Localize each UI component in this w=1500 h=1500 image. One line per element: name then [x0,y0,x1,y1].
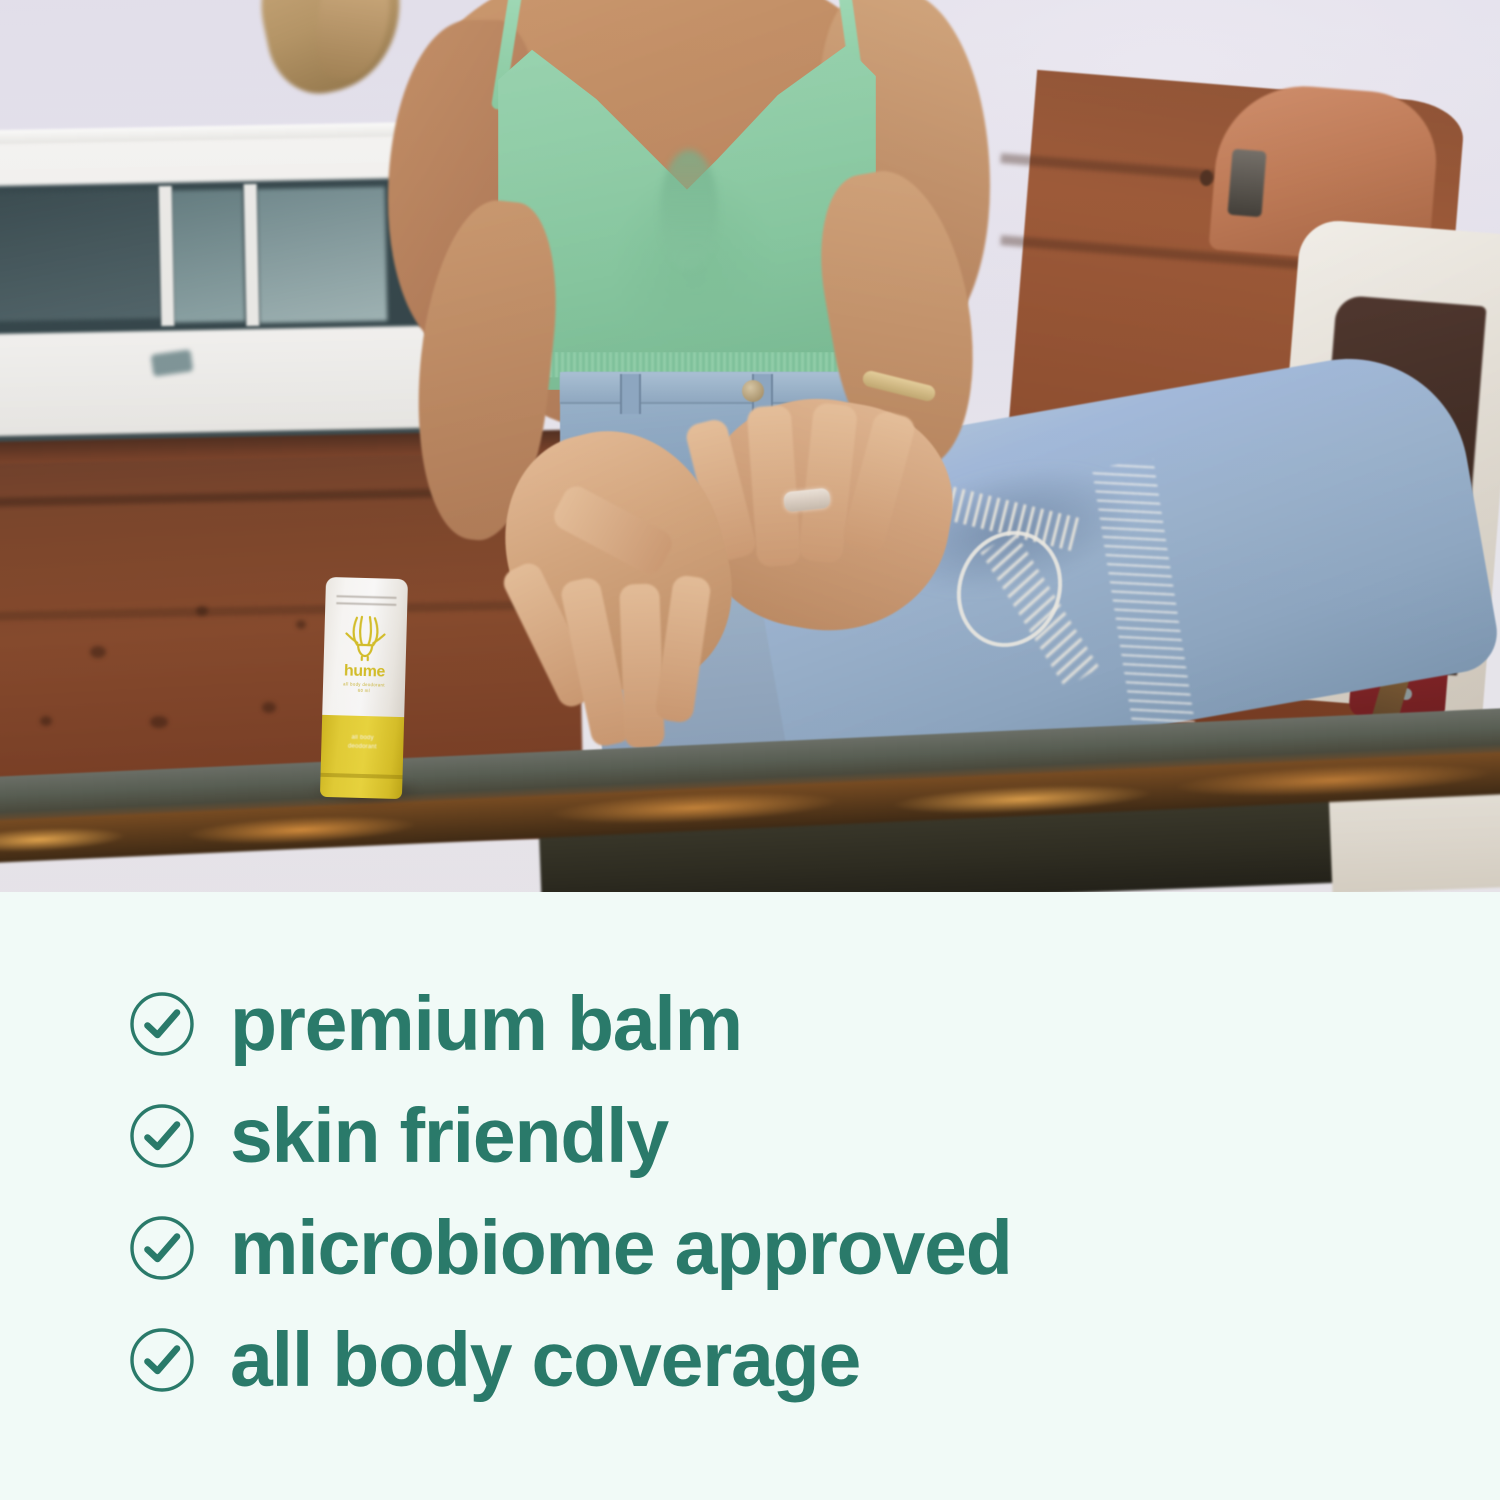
check-circle-icon [128,1102,196,1170]
rust-speck [40,716,52,726]
hero-photo: hume all body deodorant 60 ml all body d… [0,0,1500,892]
truck-cab-window-glass [257,187,388,323]
feature-item-premium-balm: premium balm [128,968,1388,1080]
product-tube-brand-name: hume [323,663,405,681]
rust-speck [296,620,306,629]
rust-speck [150,716,168,728]
truck-cab-window-mullion [159,186,175,326]
check-circle-icon [128,1326,196,1394]
truck-cab-window-mullion [244,184,260,326]
jeans-button [742,380,764,402]
product-tube-name-line1: all body [351,735,373,742]
check-circle-icon [128,1214,196,1282]
feature-label: all body coverage [230,1322,860,1399]
product-tube-sub-line2: 60 ml [358,688,370,693]
tailgate-latch [1227,149,1266,218]
jeans-belt-loop [620,374,641,414]
product-tube-brand-sub: all body deodorant 60 ml [323,681,405,695]
product-feature-card: hume all body deodorant 60 ml all body d… [0,0,1500,1500]
finger [619,583,665,748]
truck-cab-window-glass [0,190,161,322]
feature-list: premium balm skin friendly [128,968,1388,1416]
product-tube-sub-line1: all body deodorant [343,681,385,687]
feature-panel: premium balm skin friendly [0,892,1500,1500]
feature-item-skin-friendly: skin friendly [128,1080,1388,1192]
truck-cab-lower-panel [0,325,441,444]
feature-item-all-body-coverage: all body coverage [128,1304,1388,1416]
product-tube-name-line2: deodorant [348,744,377,751]
rust-speck [196,606,208,616]
feature-item-microbiome-approved: microbiome approved [128,1192,1388,1304]
product-tube-yellow-body [320,715,404,799]
cami-ruching [660,150,718,270]
feature-label: skin friendly [230,1098,668,1175]
rabbit-ears-logo-icon [342,613,389,662]
product-tube-fine-print [336,591,396,609]
product-tube: hume all body deodorant 60 ml all body d… [320,577,408,797]
truck-cab-window-glass [171,189,246,322]
feature-label: microbiome approved [230,1210,1012,1287]
rust-speck [262,702,276,713]
check-circle-icon [128,990,196,1058]
feature-label: premium balm [230,986,742,1063]
rust-speck [90,646,106,658]
product-tube-product-name: all body deodorant [321,733,403,753]
